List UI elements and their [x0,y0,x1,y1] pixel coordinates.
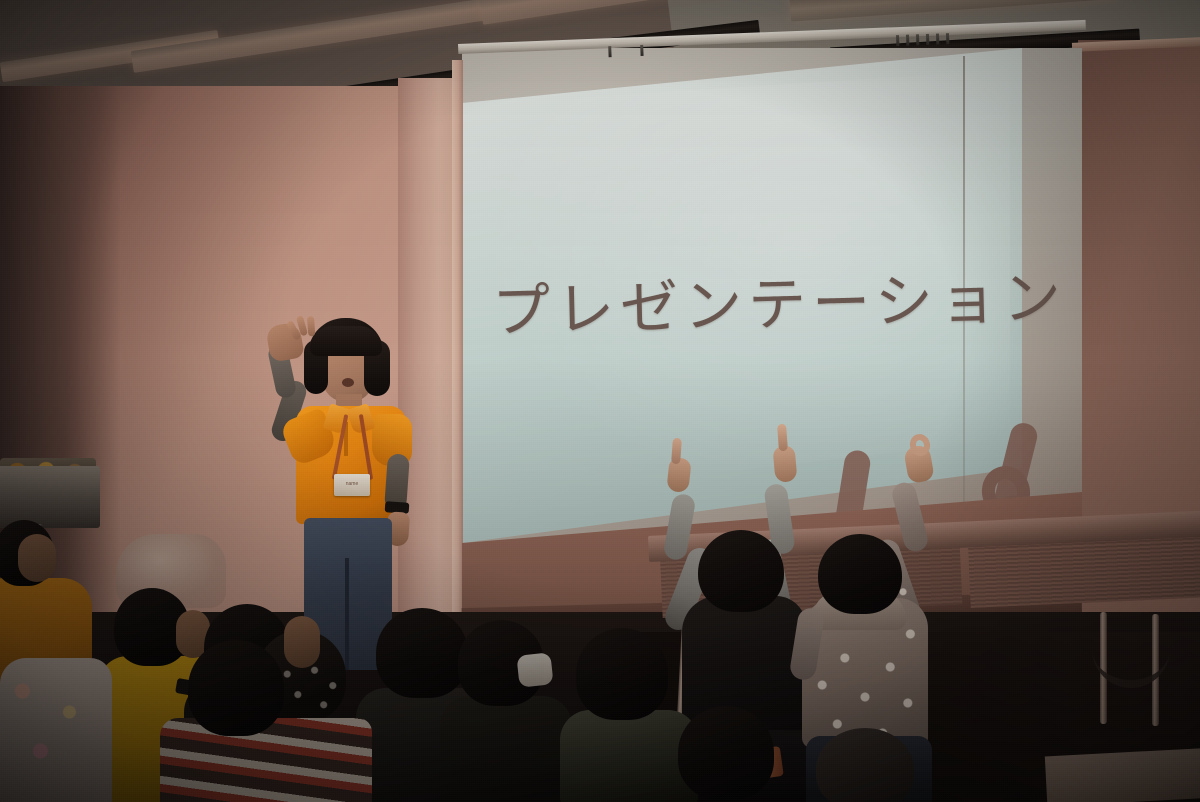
child-head [576,628,668,720]
presenter-mouth [342,378,354,387]
rail-hook-icon [640,45,643,56]
name-badge-text: name [338,481,366,487]
pointing-finger-icon [671,438,682,465]
child-floral-top [0,658,112,802]
presenter-bangs [310,326,382,356]
table-bottom-right [1045,748,1200,802]
child-striped-shirt [160,718,372,802]
rail-hook-icon [936,34,939,45]
rail-hook-icon [916,34,919,45]
wall-pillar-edge [452,60,463,680]
adult-head [0,520,54,586]
child-foreground-1 [656,712,806,802]
child-head [698,530,784,612]
rail-hook-icon [926,34,929,45]
rail-hook-icon [946,33,949,44]
child-top [440,696,572,802]
finger-icon [307,316,315,336]
photo-scene: プレゼンテーション [0,0,1200,802]
rail-hook-icon [906,35,909,46]
child-head [114,588,190,666]
child-head [816,728,914,802]
child-foreground-2 [800,736,950,802]
face-mask-icon [516,652,553,687]
rail-hook-icon [608,46,611,57]
rail-hook-icon [896,35,899,46]
presenter-raised-hand [265,321,305,362]
child-face [284,616,320,668]
child-hand [772,445,797,483]
child-head [678,706,774,800]
child-head [818,534,902,614]
child-floral [0,640,110,802]
metal-cart [0,466,100,528]
child-striped [160,700,370,802]
adult-face [18,534,56,582]
projected-slide-text: プレゼンテーション [491,252,1013,349]
pointing-finger-icon [777,424,788,452]
child-masked [440,620,570,802]
child-head [188,640,284,736]
